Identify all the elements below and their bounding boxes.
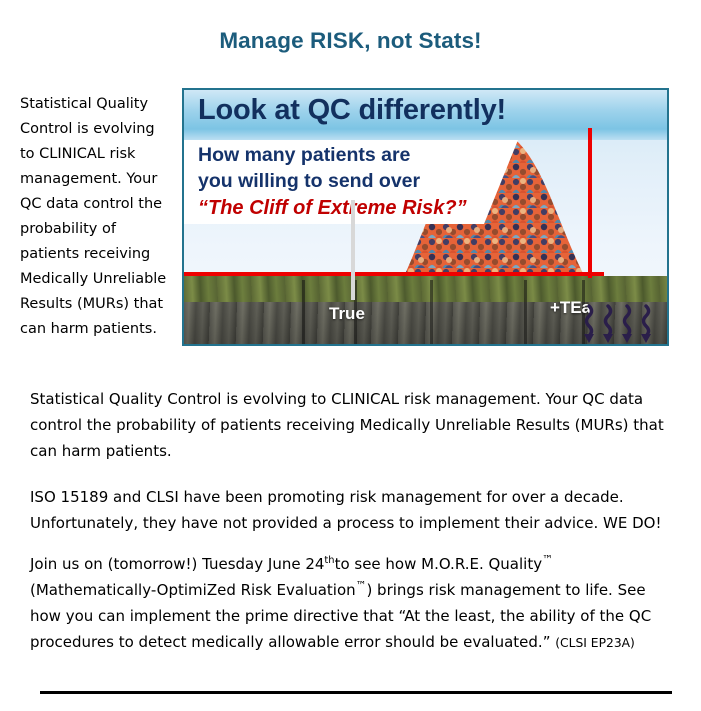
clsi-citation: (CLSI EP23A) [555, 636, 635, 650]
red-baseline [184, 272, 604, 276]
p3-segment-3: (Mathematically-OptimiZed Risk Evaluatio… [30, 581, 356, 599]
bottom-divider [40, 691, 672, 694]
figure-banner-heading: Look at QC differently! [198, 94, 506, 127]
body-paragraph-2: ISO 15189 and CLSI have been promoting r… [30, 484, 678, 536]
cliff-crack [302, 280, 305, 344]
figure-label-true: True [329, 304, 365, 324]
qc-cliff-figure: Look at QC differently! How many patient… [182, 88, 669, 346]
figure-question-line-1: How many patients are [198, 144, 410, 167]
p3-ordinal-suffix: th [324, 555, 334, 566]
body-paragraph-3: Join us on (tomorrow!) Tuesday June 24th… [30, 551, 678, 656]
page-title: Manage RISK, not Stats! [0, 28, 701, 54]
trademark-symbol: ™ [356, 579, 367, 592]
falling-patients-arrows-icon [584, 304, 666, 344]
p3-segment-2: to see how M.O.R.E. Quality [335, 555, 543, 573]
tea-limit-vertical-line [588, 128, 592, 278]
intro-paragraph: Statistical Quality Control is evolving … [20, 92, 172, 342]
cliff-moss-layer [184, 276, 667, 302]
cliff-crack [430, 280, 433, 344]
body-paragraph-1: Statistical Quality Control is evolving … [30, 386, 678, 464]
figure-question-panel-wedge [484, 140, 518, 224]
p3-segment-1: Join us on (tomorrow!) Tuesday June 24 [30, 555, 324, 573]
trademark-symbol: ™ [542, 553, 553, 566]
figure-question-line-2: you willing to send over [198, 170, 420, 193]
true-value-marker-line [351, 200, 355, 300]
cliff-crack [524, 280, 527, 344]
figure-question-line-3-risk: “The Cliff of Extreme Risk?” [198, 197, 467, 220]
